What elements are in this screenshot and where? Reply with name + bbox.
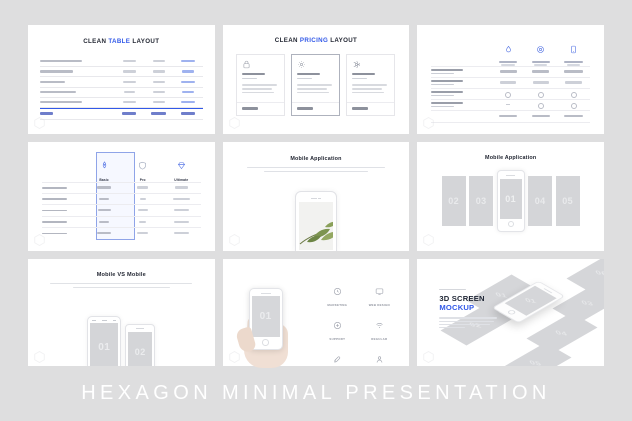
phone-screen-label: 01 <box>500 179 522 219</box>
pricing-card-featured[interactable] <box>291 54 340 116</box>
banner-title: HEXAGON MINIMAL PRESENTATION <box>81 382 551 405</box>
slide1-title-part1: CLEAN <box>83 38 108 45</box>
phone-screen-label: 01 <box>252 296 280 337</box>
slide7-paragraph <box>50 283 192 288</box>
table-row <box>42 227 201 238</box>
phone-mockup-featured[interactable]: 01 <box>497 170 525 232</box>
mockup-body-lines <box>439 317 497 328</box>
slide7-title: Mobile VS Mobile <box>28 272 215 278</box>
flower-icon <box>352 60 361 69</box>
feature-item[interactable]: WEB DESIGN <box>361 283 397 307</box>
slide2-title-part2: PRICING <box>300 37 328 44</box>
pricing-card-name <box>297 73 319 75</box>
wifi-icon <box>375 317 384 334</box>
feature-label: MARKETING <box>319 303 355 307</box>
slide-grid: CLEAN TABLE LAYOUT CLEAN PRICING LAYOUT <box>28 25 604 366</box>
phone-icon <box>569 41 578 58</box>
hand-holding-phone: 01 <box>237 284 301 368</box>
phone-screen-plant <box>299 202 333 250</box>
shield-icon <box>138 158 147 175</box>
slide-clean-table-layout[interactable]: CLEAN TABLE LAYOUT <box>28 25 215 134</box>
feature-item[interactable]: REGULAR <box>361 317 397 341</box>
home-button-icon <box>508 221 514 227</box>
phone-screen-label: 01 <box>90 323 118 368</box>
pricing-card-price <box>297 107 313 110</box>
hexagon-watermark-icon <box>34 234 45 246</box>
drop-icon <box>504 41 513 58</box>
gear-icon <box>297 60 306 69</box>
hexagon-watermark-icon <box>229 234 240 246</box>
slide1-title-part3: LAYOUT <box>130 38 159 45</box>
slide2-title-part1: CLEAN <box>275 37 300 44</box>
iso-tile-label: 03 <box>581 299 595 307</box>
iso-phone-label: 01 <box>524 297 537 305</box>
slide2-title-part3: LAYOUT <box>328 37 357 44</box>
hexagon-watermark-icon <box>423 234 434 246</box>
feature-label: WEB DESIGN <box>361 303 397 307</box>
slide-mobile-application-hero[interactable]: Mobile Application <box>223 142 410 251</box>
pricing-card-list <box>223 54 410 116</box>
monitor-icon <box>375 283 384 300</box>
eyebrow-line <box>439 289 466 290</box>
pricing-card-name <box>352 73 374 75</box>
hexagon-watermark-icon <box>423 351 434 363</box>
presentation-preview-board: CLEAN TABLE LAYOUT CLEAN PRICING LAYOUT <box>0 0 632 421</box>
pricing-card[interactable] <box>346 54 395 116</box>
phone-screen-label: 02 <box>128 332 152 369</box>
mockup-text-block: 3D SCREEN MOCKUP <box>439 289 497 330</box>
pricing-card-sub <box>242 78 257 80</box>
pricing-card-name <box>242 73 264 75</box>
phone-mockup <box>295 191 337 251</box>
home-button-icon <box>262 339 269 346</box>
table-total-row <box>40 108 203 120</box>
phone-status-bar <box>299 197 333 199</box>
hexagon-watermark-icon <box>423 117 434 129</box>
hexagon-watermark-icon <box>34 351 45 363</box>
pricing-card-sub <box>297 78 312 80</box>
slide-mobile-application-screens[interactable]: Mobile Application 02 03 01 04 05 <box>417 142 604 251</box>
comparison-footer-row <box>431 110 590 123</box>
phone-mockup-01[interactable]: 01 <box>87 316 121 368</box>
slide-3d-screen-mockup[interactable]: 05 04 03 02 01 06 01 3D SCREEN MOCKUP <box>417 259 604 368</box>
mockup-heading-line2: MOCKUP <box>439 303 497 312</box>
screen-thumb[interactable]: 02 <box>442 176 466 226</box>
slide5-title: Mobile Application <box>223 156 410 162</box>
pricing-card[interactable] <box>236 54 285 116</box>
slide-hand-phone-features[interactable]: 01 MARKETING WEB DESIGN SUPPORT <box>223 259 410 368</box>
phone-comparison: 01 02 <box>28 316 215 368</box>
slide1-title-part2: TABLE <box>108 38 130 45</box>
slide-plan-table[interactable]: Basic Pro Ultimate <box>28 142 215 251</box>
hexagon-watermark-icon <box>34 117 45 129</box>
screen-thumb[interactable]: 05 <box>556 176 580 226</box>
presentation-title-banner: HEXAGON MINIMAL PRESENTATION <box>0 366 632 421</box>
plus-circle-icon <box>333 317 342 334</box>
iso-tile-label: 04 <box>555 329 569 337</box>
iso-tile[interactable]: 06 <box>567 259 604 294</box>
comparison-table <box>417 25 604 123</box>
slide5-paragraph <box>247 167 385 172</box>
hexagon-watermark-icon <box>229 117 240 129</box>
pricing-card-sub <box>352 78 367 80</box>
hexagon-watermark-icon <box>229 351 240 363</box>
iso-tile-label: 06 <box>595 269 604 277</box>
slide1-title: CLEAN TABLE LAYOUT <box>28 38 215 45</box>
mockup-heading-line1: 3D SCREEN <box>439 294 497 303</box>
slide6-title: Mobile Application <box>417 155 604 161</box>
feature-item[interactable]: SUPPORT <box>319 317 355 341</box>
screen-strip: 02 03 01 04 05 <box>417 170 604 232</box>
feature-label: REGULAR <box>361 337 397 341</box>
phone-mockup-02[interactable]: 02 <box>125 324 155 368</box>
slide-clean-pricing-layout[interactable]: CLEAN PRICING LAYOUT <box>223 25 410 134</box>
clock-icon <box>333 283 342 300</box>
screen-thumb[interactable]: 03 <box>469 176 493 226</box>
lock-icon <box>242 60 251 69</box>
rocket-icon <box>100 158 109 175</box>
target-icon <box>536 41 545 58</box>
feature-item[interactable]: MARKETING <box>319 283 355 307</box>
screen-thumb[interactable]: 04 <box>528 176 552 226</box>
feature-icon-grid: MARKETING WEB DESIGN SUPPORT REGULAR IDE… <box>319 283 397 368</box>
slide-feature-comparison[interactable] <box>417 25 604 134</box>
diamond-icon <box>177 158 186 175</box>
slide-mobile-vs-mobile[interactable]: Mobile VS Mobile 01 02 <box>28 259 215 368</box>
pricing-card-price <box>242 107 258 110</box>
feature-label: SUPPORT <box>319 337 355 341</box>
pricing-card-price <box>352 107 368 110</box>
plan-table: Basic Pro Ultimate <box>28 142 215 239</box>
slide2-title: CLEAN PRICING LAYOUT <box>223 37 410 44</box>
slide1-table <box>40 57 203 120</box>
